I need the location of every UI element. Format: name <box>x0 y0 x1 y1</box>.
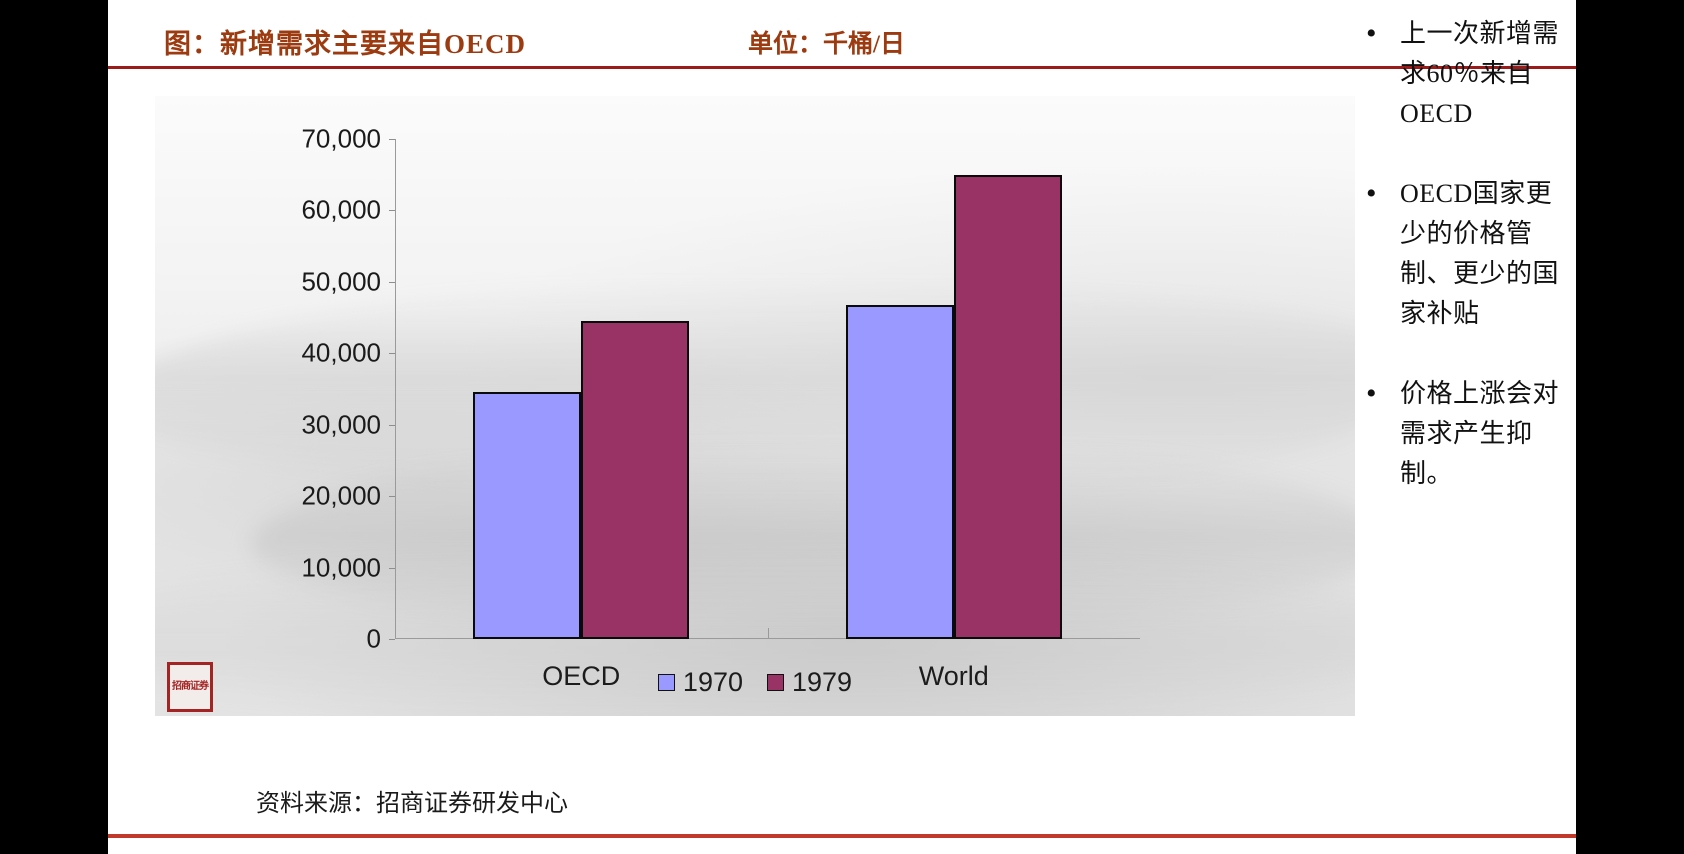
company-seal-icon: 招商证券 <box>167 662 213 712</box>
y-axis-label: 40,000 <box>301 338 381 369</box>
y-axis-line <box>395 139 396 639</box>
chart-legend: 19701979 <box>155 667 1355 698</box>
x-axis-tick <box>768 628 769 639</box>
legend-label: 1970 <box>683 667 743 698</box>
y-axis-label: 70,000 <box>301 124 381 155</box>
bullet-list: •上一次新增需求60％来自OECD•OECD国家更少的价格管制、更少的国家补贴•… <box>1366 14 1566 534</box>
y-axis-tick <box>389 353 395 354</box>
bar-oecd-1979 <box>581 321 689 639</box>
bullet-item-3: •价格上涨会对需求产生抑制。 <box>1366 374 1566 494</box>
bottom-divider-rule <box>108 834 1576 838</box>
y-axis-tick <box>389 568 395 569</box>
y-axis-label: 0 <box>367 624 381 655</box>
bar-oecd-1970 <box>473 392 581 639</box>
legend-item-1970[interactable]: 1970 <box>658 667 743 698</box>
bullet-item-2: •OECD国家更少的价格管制、更少的国家补贴 <box>1366 174 1566 334</box>
chart-unit-label: 单位：千桶/日 <box>748 24 905 60</box>
legend-swatch-icon <box>767 674 784 691</box>
plot-area: 010,00020,00030,00040,00050,00060,00070,… <box>395 139 1140 639</box>
y-axis-tick <box>389 210 395 211</box>
y-axis-tick <box>389 639 395 640</box>
bullet-item-1: •上一次新增需求60％来自OECD <box>1366 14 1566 134</box>
y-axis-tick <box>389 425 395 426</box>
bullet-text: 上一次新增需求60％来自OECD <box>1400 14 1566 134</box>
top-divider-rule <box>108 66 1576 69</box>
source-note: 资料来源：招商证券研发中心 <box>256 783 568 818</box>
y-axis-tick <box>389 496 395 497</box>
y-axis-label: 60,000 <box>301 195 381 226</box>
bullet-dot-icon: • <box>1366 14 1400 134</box>
y-axis-label: 20,000 <box>301 481 381 512</box>
bar-world-1979 <box>954 175 1062 639</box>
chart-title: 图：新增需求主要来自OECD <box>164 22 526 61</box>
bullet-text: OECD国家更少的价格管制、更少的国家补贴 <box>1400 174 1566 334</box>
bullet-text: 价格上涨会对需求产生抑制。 <box>1400 374 1566 494</box>
slide: 图：新增需求主要来自OECD 单位：千桶/日 010,00020,00030,0… <box>108 0 1576 854</box>
y-axis-label: 10,000 <box>301 552 381 583</box>
bar-world-1970 <box>846 305 954 639</box>
chart-panel: 010,00020,00030,00040,00050,00060,00070,… <box>155 96 1355 716</box>
y-axis-label: 50,000 <box>301 266 381 297</box>
y-axis-tick <box>389 282 395 283</box>
y-axis-tick <box>389 139 395 140</box>
legend-item-1979[interactable]: 1979 <box>767 667 852 698</box>
bullet-dot-icon: • <box>1366 174 1400 334</box>
legend-swatch-icon <box>658 674 675 691</box>
bullet-dot-icon: • <box>1366 374 1400 494</box>
legend-label: 1979 <box>792 667 852 698</box>
y-axis-label: 30,000 <box>301 409 381 440</box>
